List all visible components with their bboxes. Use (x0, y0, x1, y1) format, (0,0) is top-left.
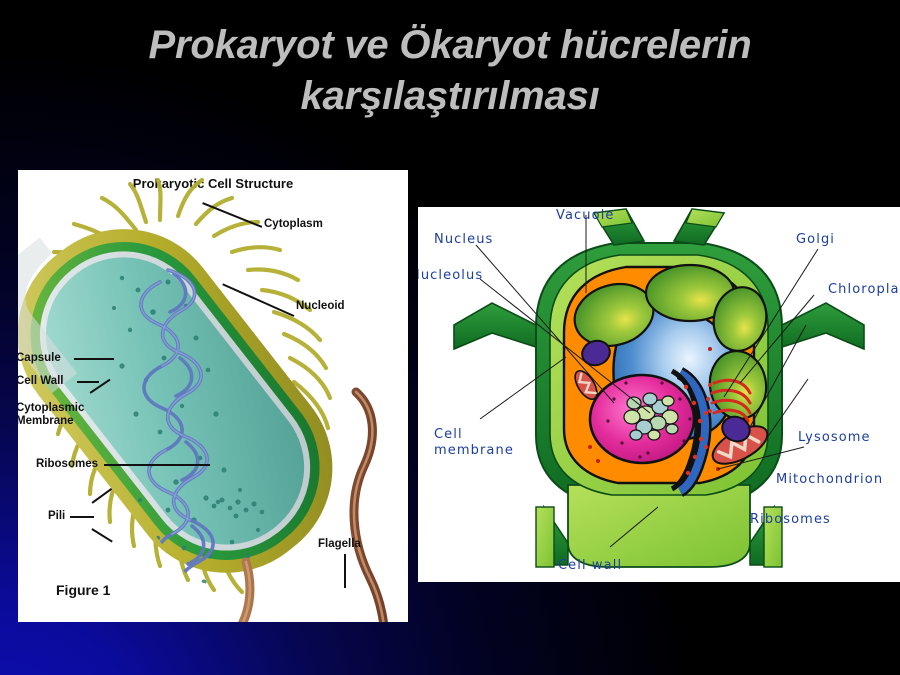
prok-label-flagella: Flagella (318, 538, 361, 551)
euk-label-nucleus: Nucleus (434, 233, 493, 248)
euk-label-cell-wall: Cell wall (558, 559, 622, 574)
leader-line-flagella (344, 554, 346, 588)
prokaryotic-cell-figure: Prokaryotic Cell Structure (18, 170, 408, 622)
euk-label-mitochondrion: Mitochondrion (776, 473, 883, 488)
prok-label-cytoplasmic-membrane: Cytoplasmic Membrane (18, 402, 84, 428)
leader-line-ribosomes (104, 464, 210, 466)
prok-label-cell-wall: Cell Wall (18, 375, 64, 388)
prok-figure-caption: Figure 1 (56, 582, 110, 598)
slide-canvas: Prokaryot ve Ökaryot hücrelerin karşılaş… (0, 0, 900, 675)
euk-label-nucleolus: Nucleolus (418, 269, 483, 284)
page-title: Prokaryot ve Ökaryot hücrelerin karşılaş… (0, 20, 900, 122)
euk-label-golgi: Golgi (796, 233, 835, 248)
leader-line-pili (70, 516, 94, 518)
euk-label-ribosomes: Ribosomes (750, 513, 831, 528)
leader-line-cell-wall (77, 381, 99, 383)
euk-label-vacuole: Vacuole (556, 209, 615, 224)
cell-membrane-line1: Cell (434, 427, 463, 442)
euk-label-chloroplast: Chloroplast (828, 283, 900, 298)
euk-label-lysosome: Lysosome (798, 431, 871, 446)
eukaryotic-plant-cell-figure: Vacuole Nucleus Nucleolus Golgi Chloropl… (418, 207, 900, 582)
prokaryote-illustration (18, 170, 408, 622)
euk-label-cell-membrane: Cell membrane (434, 427, 514, 460)
prok-label-pili: Pili (48, 510, 65, 523)
prok-label-cytoplasm: Cytoplasm (264, 218, 323, 231)
leader-line-capsule (74, 358, 114, 360)
prok-label-ribosomes: Ribosomes (36, 458, 98, 471)
cell-membrane-line2: membrane (434, 443, 514, 458)
cytoplasmic-line2: Membrane (18, 415, 74, 427)
prok-label-nucleoid: Nucleoid (296, 300, 345, 313)
cytoplasmic-line1: Cytoplasmic (18, 402, 84, 414)
prok-label-capsule: Capsule (18, 352, 61, 365)
